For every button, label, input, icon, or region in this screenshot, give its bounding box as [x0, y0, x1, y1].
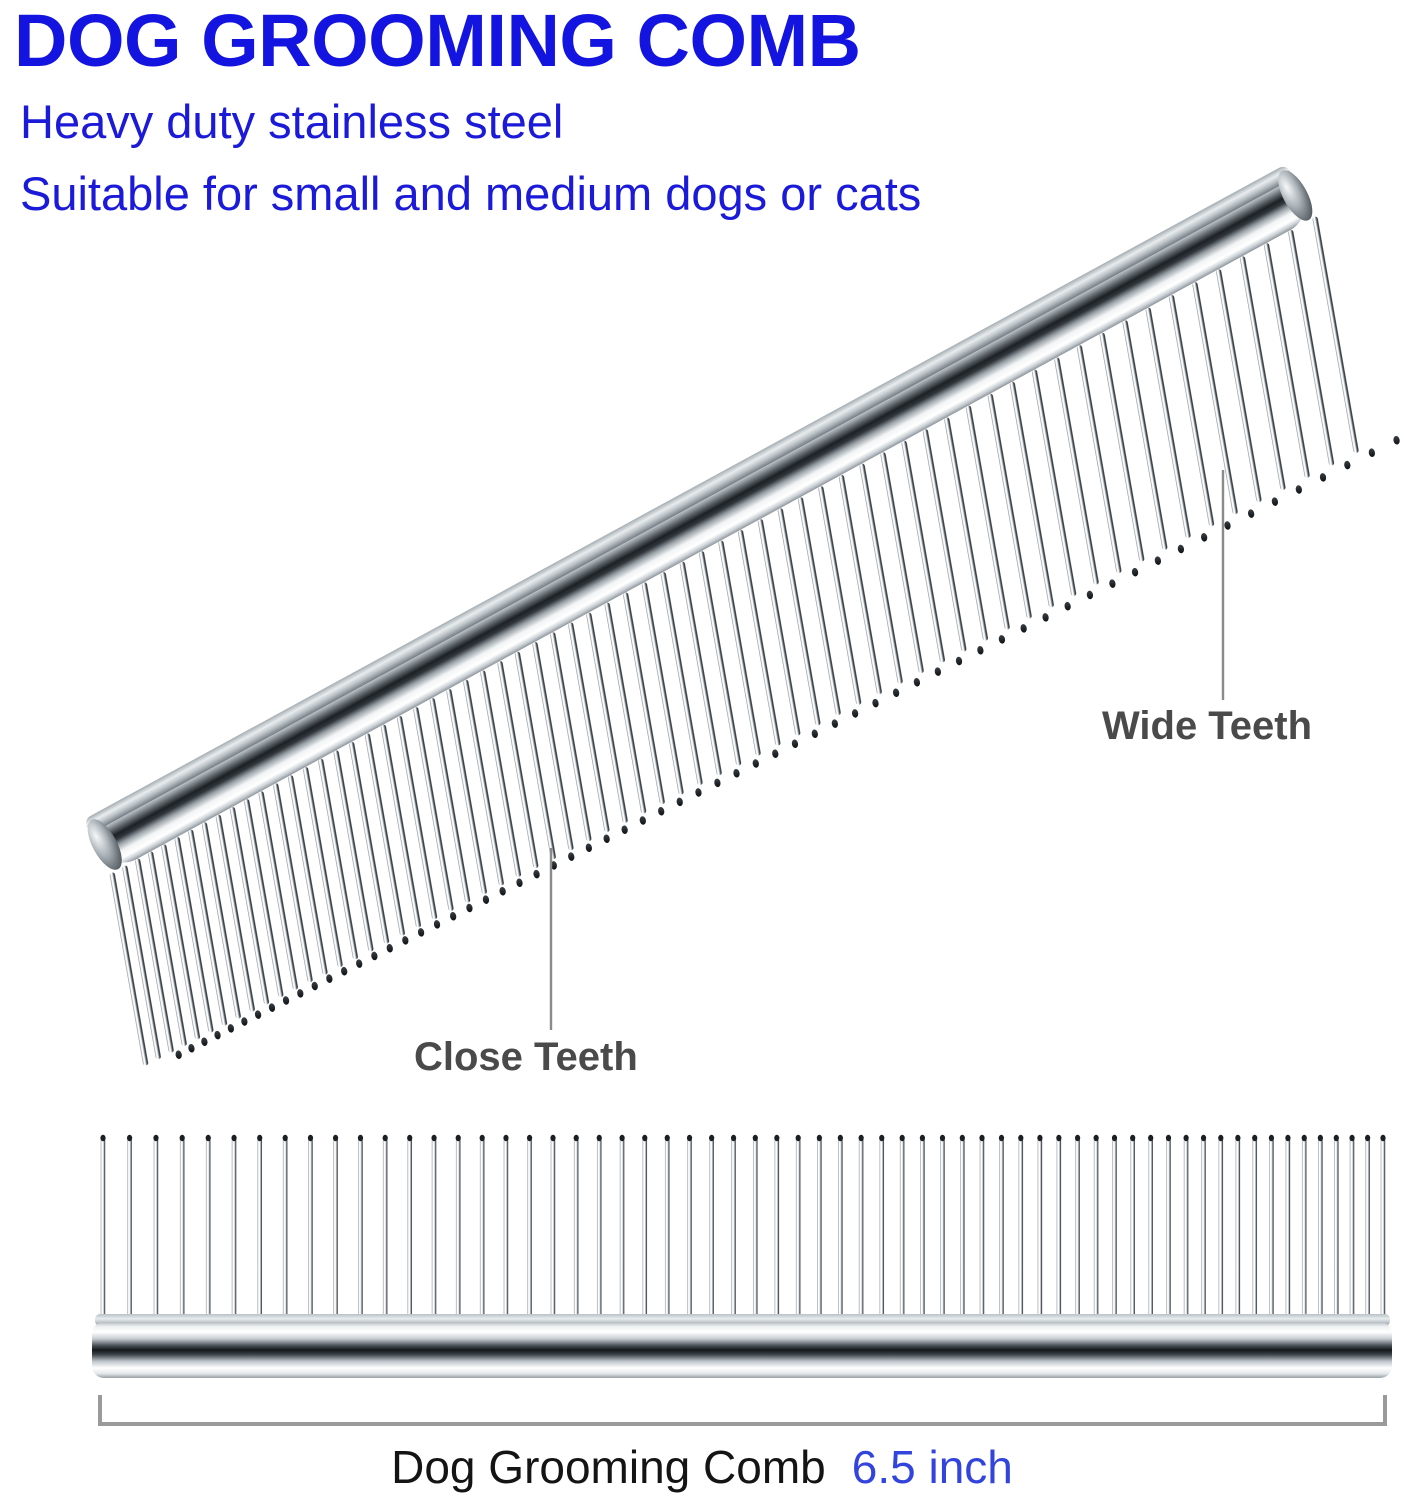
- flat-comb-tooth-tip: [774, 1135, 779, 1141]
- flat-comb-tooth: [753, 1136, 758, 1322]
- comb-tooth: [480, 670, 522, 877]
- flat-comb-tooth: [480, 1136, 485, 1322]
- comb-tooth: [1288, 230, 1335, 466]
- flat-comb-tooth: [127, 1136, 132, 1322]
- flat-comb-tooth-tip: [283, 1135, 288, 1141]
- flat-comb-tooth-tip: [1201, 1135, 1206, 1141]
- comb-tooth: [429, 698, 470, 903]
- flat-comb-tooth: [859, 1136, 864, 1322]
- flat-comb-tooth-tip: [1252, 1135, 1257, 1141]
- comb-tooth-tip: [433, 920, 441, 930]
- comb-tooth: [604, 602, 646, 814]
- comb-tooth-tip: [1247, 509, 1255, 519]
- comb-tooth: [798, 497, 842, 716]
- flat-comb-tooth-tip: [1349, 1135, 1354, 1141]
- flat-comb-tooth: [283, 1136, 288, 1322]
- flat-comb-tooth: [731, 1136, 736, 1322]
- flat-comb-tooth-tip: [620, 1135, 625, 1141]
- flat-comb-tooth-tip: [383, 1135, 388, 1141]
- comb-tooth: [1312, 216, 1359, 453]
- flat-comb-tooth-tip: [407, 1135, 412, 1141]
- flat-comb-tooth: [1286, 1136, 1291, 1322]
- leader-line-wide-teeth: [1220, 470, 1226, 700]
- comb-tooth-tip: [1319, 473, 1327, 483]
- flat-comb-tooth-tip: [879, 1135, 884, 1141]
- comb-tooth: [397, 715, 438, 919]
- comb-tooth-tip: [1177, 544, 1185, 554]
- comb-tooth-tip: [254, 1010, 262, 1020]
- comb-tooth: [944, 417, 989, 641]
- flat-comb-tooth: [940, 1136, 945, 1322]
- flat-comb-tooth: [101, 1136, 106, 1322]
- caption-product-name: Dog Grooming Comb: [391, 1441, 826, 1493]
- flat-comb-tooth: [1075, 1136, 1080, 1322]
- flat-comb-tooth: [1350, 1136, 1355, 1322]
- flat-comb-teeth-group: [100, 1135, 1385, 1322]
- comb-tooth: [922, 429, 967, 652]
- flat-comb-tooth-tip: [999, 1135, 1004, 1141]
- comb-tooth: [660, 572, 703, 786]
- flat-comb-tooth: [432, 1136, 437, 1322]
- flat-comb-tooth-tip: [527, 1135, 532, 1141]
- comb-tooth-tip: [355, 959, 363, 969]
- flat-comb-tooth-tip: [979, 1135, 984, 1141]
- comb-tooth-tip: [1368, 448, 1376, 458]
- flat-comb-tooth-tip: [1112, 1135, 1117, 1141]
- comb-tooth: [818, 486, 862, 705]
- flat-comb-tooth: [775, 1136, 780, 1322]
- flat-comb-tooth: [687, 1136, 692, 1322]
- flat-comb-tooth: [1038, 1136, 1043, 1322]
- flat-comb-tooth-tip: [920, 1135, 925, 1141]
- comb-tooth-tip: [714, 778, 722, 788]
- comb-tooth-tip: [695, 788, 703, 798]
- comb-tooth-tip: [934, 667, 942, 677]
- comb-tooth: [1054, 357, 1099, 585]
- flat-comb-tooth-tip: [1037, 1135, 1042, 1141]
- flat-comb-tooth-tip: [456, 1135, 461, 1141]
- comb-tooth: [1216, 269, 1262, 503]
- flat-comb-tooth: [1302, 1136, 1307, 1322]
- flat-comb-tooth: [1269, 1136, 1274, 1322]
- flat-comb-tooth: [574, 1136, 579, 1322]
- flat-comb-tooth: [504, 1136, 509, 1322]
- flat-comb-tooth: [257, 1136, 262, 1322]
- flat-comb-tooth-tip: [127, 1135, 132, 1141]
- comb-tooth: [1145, 307, 1191, 538]
- comb-tooth: [1099, 332, 1145, 562]
- comb-tooth-tip: [201, 1037, 209, 1047]
- comb-tooth: [699, 551, 742, 766]
- comb-tooth-tip: [791, 739, 799, 749]
- comb-tooth-tip: [851, 709, 859, 719]
- flat-comb-tooth: [527, 1136, 532, 1322]
- comb-tooth-tip: [371, 951, 379, 961]
- comb-diagonal-image: [0, 0, 1404, 1110]
- comb-tooth: [380, 724, 421, 928]
- comb-tooth-tip: [567, 852, 575, 862]
- flat-comb-tooth-tip: [431, 1135, 436, 1141]
- comb-tooth: [738, 529, 781, 746]
- flat-comb-tooth: [1166, 1136, 1171, 1322]
- comb-tooth-tip: [1393, 435, 1401, 445]
- flat-comb-tooth-tip: [709, 1135, 714, 1141]
- callout-label-close-teeth: Close Teeth: [414, 1035, 638, 1080]
- comb-tooth-tip: [872, 698, 880, 708]
- comb-tooth-tip: [282, 996, 290, 1006]
- flat-comb-tooth-tip: [257, 1135, 262, 1141]
- comb-tooth: [514, 651, 556, 860]
- product-infographic: DOG GROOMING COMB Heavy duty stainless s…: [0, 0, 1404, 1500]
- flat-comb-tooth-tip: [796, 1135, 801, 1141]
- flat-comb-tooth-tip: [1318, 1135, 1323, 1141]
- flat-comb-tooth-tip: [1166, 1135, 1171, 1141]
- flat-comb-tooth-tip: [960, 1135, 965, 1141]
- flat-comb-tooth-tip: [308, 1135, 313, 1141]
- flat-comb-tooth: [1236, 1136, 1241, 1322]
- flat-comb-tooth: [920, 1136, 925, 1322]
- comb-tooth: [463, 679, 505, 886]
- flat-comb-tooth: [1094, 1136, 1099, 1322]
- flat-comb-tooth-tip: [642, 1135, 647, 1141]
- comb-tooth-tip: [657, 806, 665, 816]
- comb-tooth: [777, 508, 821, 726]
- comb-tooth: [1076, 345, 1121, 574]
- comb-tooth-tip: [1271, 497, 1279, 507]
- flat-comb-tooth-tip: [333, 1135, 338, 1141]
- comb-tooth: [623, 592, 666, 804]
- flat-comb-tooth: [1018, 1136, 1023, 1322]
- flat-comb-tooth: [407, 1136, 412, 1322]
- flat-comb-tooth: [1148, 1136, 1153, 1322]
- flat-comb-tooth-tip: [1218, 1135, 1223, 1141]
- comb-tooth: [838, 475, 882, 695]
- flat-comb-tooth-tip: [731, 1135, 736, 1141]
- flat-comb-tooth: [1218, 1136, 1223, 1322]
- flat-comb-tooth-tip: [503, 1135, 508, 1141]
- caption-product-size: 6.5 inch: [852, 1441, 1013, 1493]
- flat-comb-tooth: [180, 1136, 185, 1322]
- comb-tooth-tip: [466, 903, 474, 913]
- flat-comb-tooth: [838, 1136, 843, 1322]
- comb-tooth-tip: [241, 1017, 249, 1027]
- comb-tooth: [586, 612, 628, 823]
- flat-comb-tooth: [796, 1136, 801, 1322]
- flat-comb-tooth-tip: [206, 1135, 211, 1141]
- flat-comb-tooth: [358, 1136, 363, 1322]
- flat-comb-tooth-tip: [358, 1135, 363, 1141]
- flat-comb-tooth: [383, 1136, 388, 1322]
- comb-tooth-tip: [516, 878, 524, 888]
- comb-tooth: [641, 582, 684, 795]
- comb-tooth-tip: [585, 843, 593, 853]
- flat-comb-tooth-tip: [1094, 1135, 1099, 1141]
- comb-tooth-tip: [1131, 567, 1139, 577]
- flat-comb-tooth: [665, 1136, 670, 1322]
- comb-tooth-tip: [771, 749, 779, 759]
- comb-tooth-tip: [214, 1030, 222, 1040]
- flat-comb-tooth-tip: [838, 1135, 843, 1141]
- flat-comb-tooth: [1112, 1136, 1117, 1322]
- comb-tooth: [1264, 243, 1311, 479]
- comb-tooth: [349, 741, 390, 944]
- flat-comb-tooth: [620, 1136, 625, 1322]
- flat-comb-tooth-tip: [1302, 1135, 1307, 1141]
- flat-comb-tooth: [456, 1136, 461, 1322]
- flat-comb-tooth-tip: [480, 1135, 485, 1141]
- flat-comb-tooth: [597, 1136, 602, 1322]
- comb-tooth-tip: [977, 645, 985, 655]
- comb-tooth-tip: [639, 816, 647, 826]
- comb-tooth-tip: [752, 759, 760, 769]
- flat-comb-tooth: [1334, 1136, 1339, 1322]
- flat-comb-tooth-tip: [1148, 1135, 1153, 1141]
- flat-comb-tooth: [232, 1136, 237, 1322]
- comb-tooth: [532, 642, 574, 851]
- flat-comb-tooth-tip: [1075, 1135, 1080, 1141]
- callout-label-wide-teeth: Wide Teeth: [1102, 704, 1312, 749]
- comb-tooth-tip: [1020, 624, 1028, 634]
- flat-comb-tooth-tip: [231, 1135, 236, 1141]
- comb-tooth-tip: [676, 797, 684, 807]
- comb-tooth-tip: [1344, 460, 1352, 470]
- comb-tooth-tip: [1042, 613, 1050, 623]
- comb-tooth: [568, 622, 610, 832]
- comb-tooth-tip: [913, 677, 921, 687]
- comb-tooth-tip: [296, 989, 304, 999]
- comb-tooth: [1122, 320, 1168, 550]
- comb-tooth: [1032, 369, 1077, 596]
- flat-comb-tooth-tip: [1130, 1135, 1135, 1141]
- comb-tooth-tip: [227, 1024, 235, 1034]
- flat-comb-tooth: [879, 1136, 884, 1322]
- flat-comb-tooth: [1365, 1136, 1370, 1322]
- flat-comb-tooth-tip: [1334, 1135, 1339, 1141]
- comb-tooth-tip: [1295, 485, 1303, 495]
- flat-comb-tooth: [980, 1136, 985, 1322]
- flat-comb-tooth: [900, 1136, 905, 1322]
- flat-comb-tooth: [1201, 1136, 1206, 1322]
- flat-comb-tooth: [206, 1136, 211, 1322]
- comb-tooth-tip: [402, 936, 410, 946]
- flat-comb-tooth: [1184, 1136, 1189, 1322]
- comb-tooth-tip: [1064, 601, 1072, 611]
- flat-comb-tooth-tip: [1018, 1135, 1023, 1141]
- comb-tooth-tip: [1200, 533, 1208, 543]
- comb-tooth-tip: [386, 943, 394, 953]
- comb-tooth-tip: [175, 1050, 183, 1060]
- flat-comb-tooth-tip: [574, 1135, 579, 1141]
- flat-comb-tooth: [551, 1136, 556, 1322]
- leader-line-close-teeth: [548, 848, 554, 1030]
- flat-comb-tooth-tip: [100, 1135, 105, 1141]
- flat-comb-tooth-tip: [180, 1135, 185, 1141]
- flat-comb-spine: [92, 1314, 1392, 1378]
- comb-tooth: [859, 463, 903, 684]
- comb-tooth: [446, 688, 487, 894]
- comb-tooth: [679, 561, 722, 775]
- comb-tooth-tip: [449, 911, 457, 921]
- comb-tooth-tip: [955, 656, 963, 666]
- comb-tooth-tip: [268, 1003, 276, 1013]
- comb-flat-side-view: [0, 1100, 1404, 1400]
- flat-comb-tooth: [1252, 1136, 1257, 1322]
- flat-comb-tooth-tip: [817, 1135, 822, 1141]
- comb-tooth: [364, 733, 405, 936]
- flat-comb-tooth-tip: [1285, 1135, 1290, 1141]
- flat-comb-tooth-tip: [1184, 1135, 1189, 1141]
- comb-tooth-tip: [1109, 579, 1117, 589]
- flat-comb-tooth-tip: [1235, 1135, 1240, 1141]
- flat-comb-tooth: [1057, 1136, 1062, 1322]
- comb-tooth-tip: [311, 981, 319, 991]
- measurement-bracket: [0, 1380, 1404, 1440]
- flat-comb-tooth: [333, 1136, 338, 1322]
- flat-comb-tooth: [642, 1136, 647, 1322]
- flat-comb-tooth-tip: [1365, 1135, 1370, 1141]
- flat-comb-tooth-tip: [900, 1135, 905, 1141]
- flat-comb-tooth-tip: [1269, 1135, 1274, 1141]
- flat-comb-tooth-tip: [687, 1135, 692, 1141]
- comb-tooth-tip: [326, 974, 334, 984]
- comb-tooth-tip: [892, 688, 900, 698]
- flat-comb-tooth-tip: [550, 1135, 555, 1141]
- comb-tooth: [497, 661, 539, 869]
- comb-tooth: [880, 452, 924, 674]
- flat-comb-tooth: [960, 1136, 965, 1322]
- comb-tooth: [965, 405, 1010, 630]
- comb-tooth-tip: [1086, 590, 1094, 600]
- comb-tooth-tip: [1154, 556, 1162, 566]
- comb-teeth-group: [109, 216, 1400, 1066]
- comb-tooth-tip: [733, 768, 741, 778]
- flat-comb-tooth-tip: [1056, 1135, 1061, 1141]
- comb-tooth-tip: [621, 825, 629, 835]
- comb-tooth-tip: [499, 886, 507, 896]
- comb-tooth-tip: [417, 928, 425, 938]
- flat-comb-tooth-tip: [597, 1135, 602, 1141]
- flat-comb-tooth: [1318, 1136, 1323, 1322]
- comb-tooth: [1192, 282, 1238, 515]
- comb-tooth: [1169, 295, 1215, 527]
- comb-tooth: [550, 632, 592, 842]
- flat-comb-tooth-tip: [753, 1135, 758, 1141]
- flat-comb-tooth-tip: [153, 1135, 158, 1141]
- flat-comb-tooth-tip: [665, 1135, 670, 1141]
- comb-tooth-tip: [533, 869, 541, 879]
- flat-comb-tooth: [709, 1136, 714, 1322]
- comb-tooth-tip: [603, 834, 611, 844]
- flat-comb-tooth-tip: [859, 1135, 864, 1141]
- comb-tooth: [1009, 381, 1054, 607]
- flat-comb-tooth: [999, 1136, 1004, 1322]
- comb-tooth-tip: [340, 966, 348, 976]
- product-caption: Dog Grooming Comb6.5 inch: [0, 1441, 1404, 1493]
- comb-tooth-tip: [188, 1043, 196, 1053]
- comb-tooth: [1240, 256, 1287, 491]
- comb-tooth: [757, 519, 800, 736]
- comb-tooth: [718, 540, 761, 756]
- flat-comb-tooth: [1130, 1136, 1135, 1322]
- comb-tooth-tip: [831, 719, 839, 729]
- flat-comb-tooth-tip: [940, 1135, 945, 1141]
- flat-comb-tooth: [1381, 1136, 1386, 1322]
- comb-tooth: [901, 440, 945, 662]
- flat-comb-tooth: [308, 1136, 313, 1322]
- comb-tooth: [987, 393, 1032, 619]
- comb-tooth: [413, 707, 454, 912]
- flat-comb-tooth: [817, 1136, 822, 1322]
- comb-tooth-tip: [998, 635, 1006, 645]
- flat-comb-tooth-tip: [1380, 1135, 1385, 1141]
- comb-tooth-tip: [482, 895, 490, 905]
- flat-comb-tooth: [154, 1136, 159, 1322]
- comb-tooth-tip: [811, 729, 819, 739]
